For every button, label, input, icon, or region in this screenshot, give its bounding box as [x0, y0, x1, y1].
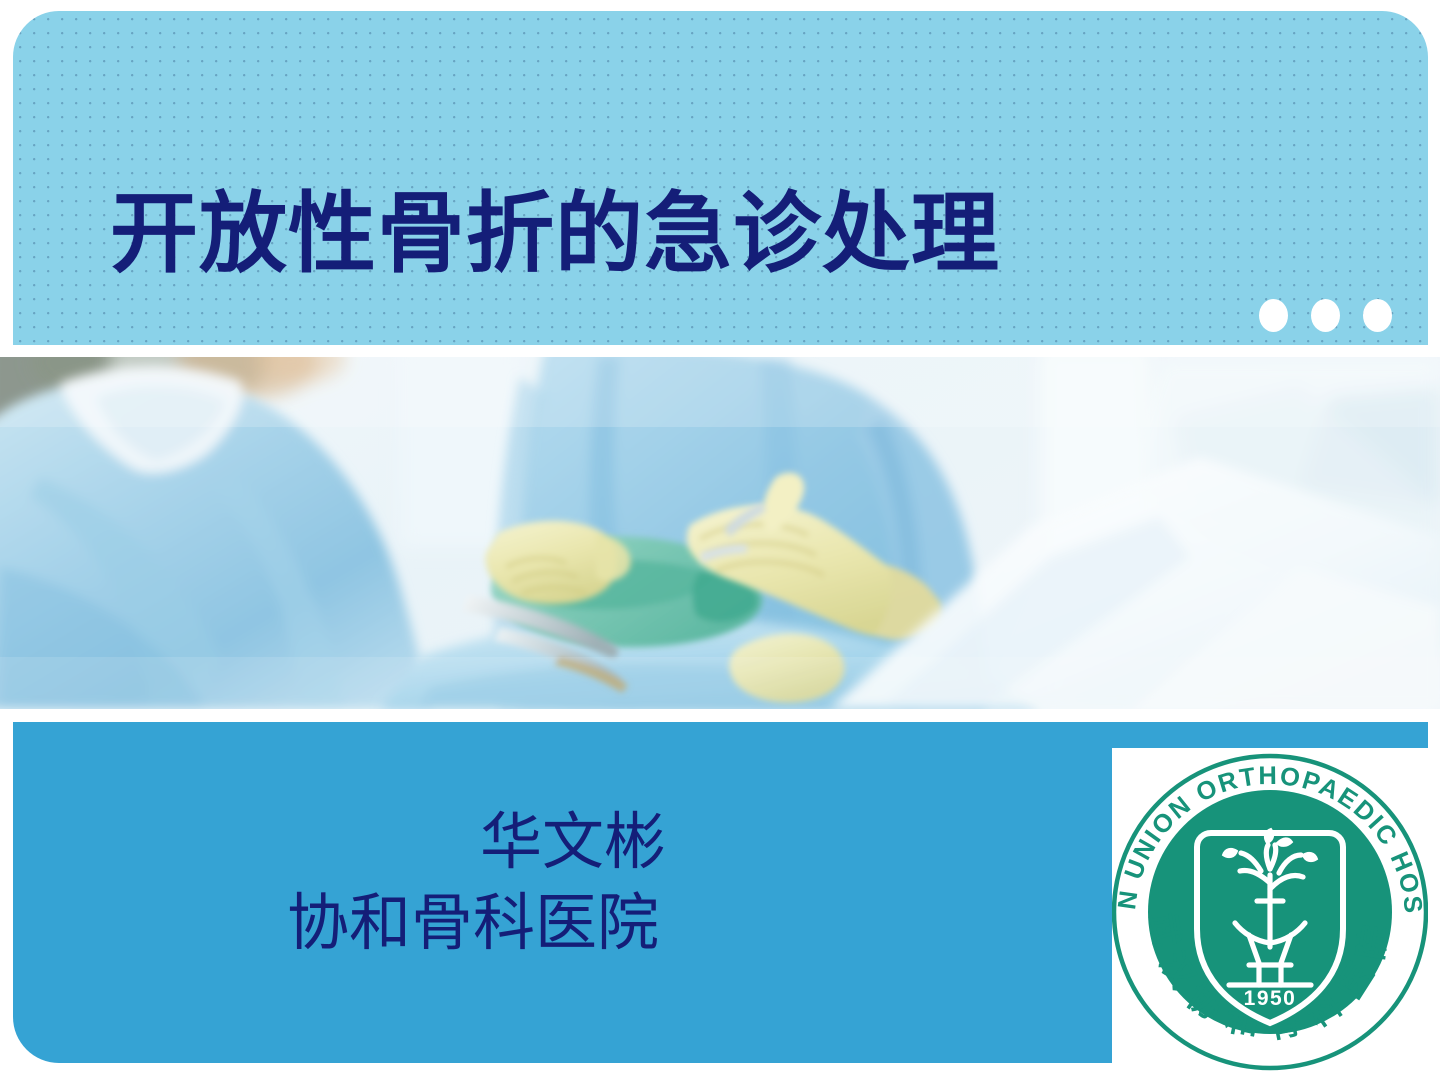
decor-dot-1	[1259, 299, 1288, 332]
hospital-logo-icon: WUHAN UNION ORTHOPAEDIC HOSPITAL 武汉协和骨科医…	[1112, 751, 1428, 1073]
surgery-photo	[0, 357, 1440, 709]
slide-header-band: 开放性骨折的急诊处理	[13, 11, 1428, 345]
affiliation-name: 协和骨科医院	[13, 883, 933, 964]
logo-founded-year: 1950	[1244, 987, 1297, 1010]
decor-dot-2	[1311, 299, 1340, 332]
decorative-dots	[1259, 299, 1392, 332]
decor-dot-3	[1363, 299, 1392, 332]
page-title: 开放性骨折的急诊处理	[110, 187, 1000, 280]
presenter-name: 华文彬	[13, 802, 933, 883]
surgery-photo-illustration	[0, 357, 1440, 709]
presentation-slide: 开放性骨折的急诊处理	[0, 0, 1440, 1080]
byline: 华文彬 协和骨科医院	[13, 802, 933, 963]
hospital-logo: WUHAN UNION ORTHOPAEDIC HOSPITAL 武汉协和骨科医…	[1112, 748, 1428, 1080]
footer-top-strip	[13, 722, 1428, 749]
